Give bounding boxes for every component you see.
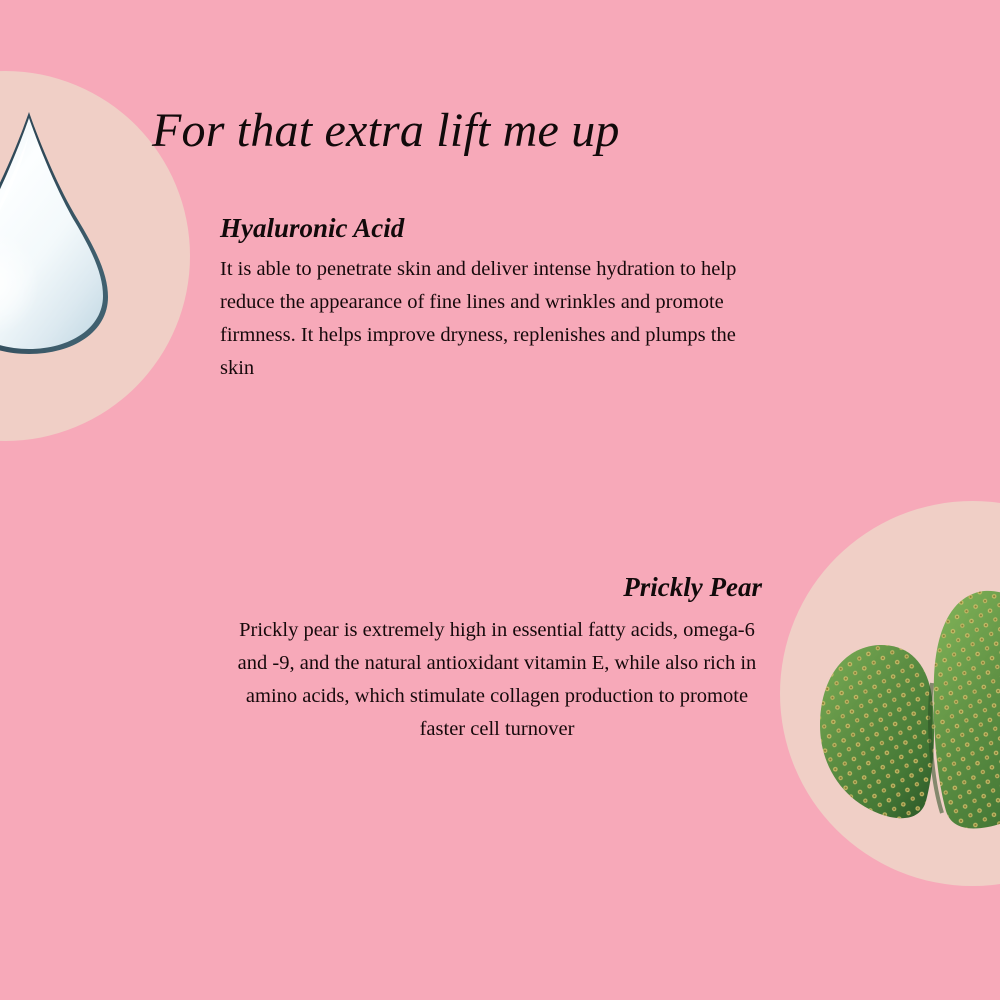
prickly-pear-cactus-icon <box>806 585 1000 833</box>
section-hyaluronic-acid: Hyaluronic Acid It is able to penetrate … <box>220 213 750 385</box>
section-body-prickly-pear: Prickly pear is extremely high in essent… <box>232 614 762 746</box>
section-body-hyaluronic-acid: It is able to penetrate skin and deliver… <box>220 253 750 385</box>
water-droplet-illustration <box>0 108 124 358</box>
water-droplet-icon <box>0 108 124 358</box>
slide-canvas: For that extra lift me up Hyaluronic Aci… <box>0 0 1000 1000</box>
section-prickly-pear: Prickly Pear Prickly pear is extremely h… <box>232 572 762 746</box>
page-title: For that extra lift me up <box>152 103 620 158</box>
cactus-pad-right <box>934 591 1000 829</box>
cactus-pad-left <box>820 645 934 818</box>
section-heading-prickly-pear: Prickly Pear <box>232 572 762 604</box>
section-heading-hyaluronic-acid: Hyaluronic Acid <box>220 213 750 245</box>
prickly-pear-illustration <box>806 585 1000 833</box>
